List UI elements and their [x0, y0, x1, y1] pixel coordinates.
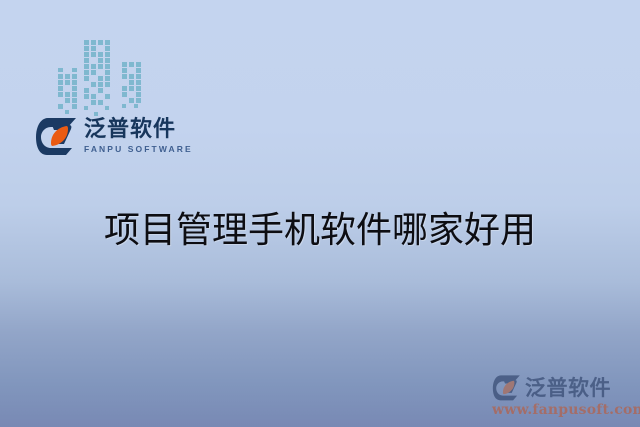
brand-name-en: FANPU SOFTWARE	[84, 145, 193, 154]
watermark-name-cn: 泛普软件	[525, 372, 611, 402]
poster-canvas: 泛普软件 FANPU SOFTWARE 项目管理手机软件哪家好用 泛普软件 ww…	[0, 0, 640, 427]
page-title: 项目管理手机软件哪家好用	[104, 209, 536, 253]
fanpu-logo-mark-icon	[36, 116, 78, 156]
watermark-url: www.fanpusoft.com	[492, 402, 632, 418]
brand-text: 泛普软件 FANPU SOFTWARE	[84, 119, 193, 154]
brand-lockup: 泛普软件 FANPU SOFTWARE	[36, 116, 193, 156]
watermark-logo-row: 泛普软件	[492, 373, 632, 401]
pixel-skyline-graphic	[56, 34, 168, 120]
fanpu-logo-mark-watermark-icon	[492, 374, 522, 401]
watermark: 泛普软件 www.fanpusoft.com	[492, 373, 632, 421]
brand-name-cn: 泛普软件	[84, 119, 193, 141]
